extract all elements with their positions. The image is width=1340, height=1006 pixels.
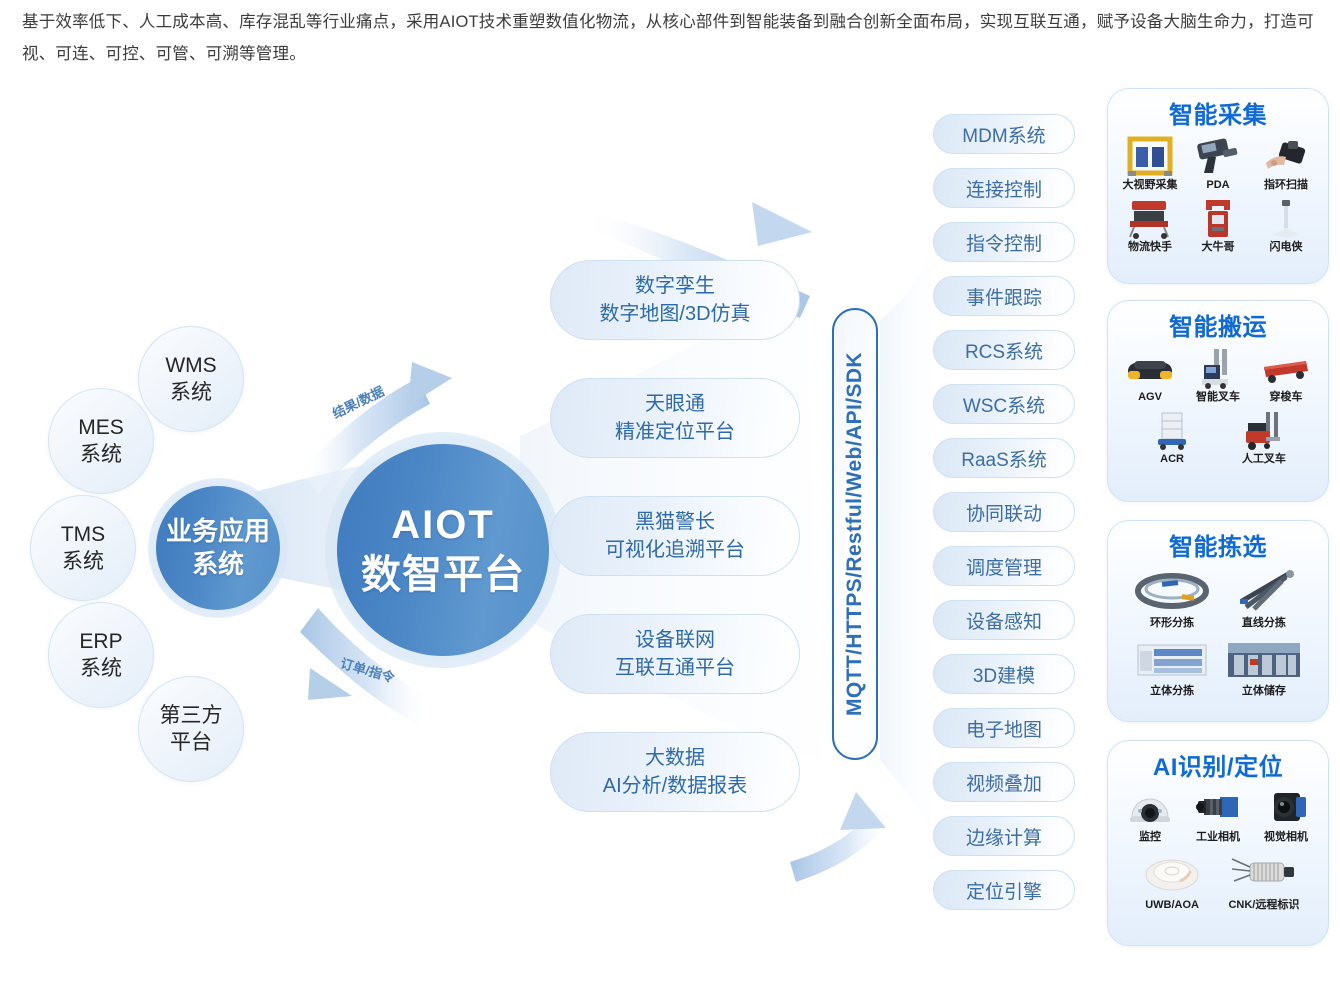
capability-label: WSC系统 (963, 391, 1045, 418)
card-title: 智能拣选 (1116, 527, 1320, 562)
satellite-label-line2: 系统 (80, 441, 122, 468)
protocol-capsule[interactable]: MQTT/HTTPS/Restful/Web/API/SDK (832, 308, 878, 760)
platform-box-line1: 天眼通 (645, 390, 705, 418)
capability-label: 视频叠加 (966, 769, 1042, 796)
capability-pill-scheduling[interactable]: 调度管理 (933, 546, 1075, 586)
platform-box-line2: 精准定位平台 (615, 418, 735, 446)
capability-pill-3d-modeling[interactable]: 3D建模 (933, 654, 1075, 694)
equipment-item[interactable]: 直线分拣 (1218, 566, 1310, 630)
business-hub-line1: 业务应用 (166, 515, 270, 548)
satellite-tms[interactable]: TMS 系统 (30, 495, 136, 601)
equipment-item[interactable]: 视觉相机 (1252, 786, 1320, 844)
capability-label: MDM系统 (962, 121, 1045, 148)
manual-forklift-icon (1235, 408, 1293, 452)
equipment-item[interactable]: UWB/AOA (1126, 848, 1218, 912)
equipment-item[interactable]: 指环扫描 (1252, 134, 1320, 192)
equipment-item[interactable]: 智能叉车 (1184, 346, 1252, 404)
equipment-item[interactable]: 工业相机 (1184, 786, 1252, 844)
equipment-item[interactable]: 立体分拣 (1126, 634, 1218, 698)
capability-label: 调度管理 (966, 553, 1042, 580)
platform-box-line2: 可视化追溯平台 (605, 536, 745, 564)
equipment-item[interactable]: 大视野采集 (1116, 134, 1184, 192)
equipment-label: 视觉相机 (1264, 831, 1308, 844)
arrow-label-result-data: 结果/数据 (329, 381, 387, 422)
capability-pill-wsc[interactable]: WSC系统 (933, 384, 1075, 424)
satellite-label-line1: MES (78, 414, 124, 441)
platform-box-line2: 互联互通平台 (615, 654, 735, 682)
equipment-item[interactable]: 监控 (1116, 786, 1184, 844)
handheld-pda-icon (1189, 134, 1247, 178)
protocol-capsule-label: MQTT/HTTPS/Restful/Web/API/SDK (843, 352, 867, 716)
platform-box-tianyantong[interactable]: 天眼通 精准定位平台 (550, 378, 800, 458)
agv-icon (1121, 346, 1179, 390)
platform-box-line2: AI分析/数据报表 (603, 772, 747, 800)
equipment-item[interactable]: 环形分拣 (1126, 566, 1218, 630)
capability-pill-collaboration[interactable]: 协同联动 (933, 492, 1075, 532)
card-title: 智能采集 (1116, 95, 1320, 130)
card-item-grid: AGV 智能叉车 (1116, 346, 1320, 470)
platform-box-device-network[interactable]: 设备联网 互联互通平台 (550, 614, 800, 694)
capability-pill-mdm[interactable]: MDM系统 (933, 114, 1075, 154)
equipment-label: PDA (1206, 179, 1229, 192)
capability-label: RCS系统 (965, 337, 1043, 364)
equipment-label: 直线分拣 (1242, 617, 1286, 630)
card-item-grid: 监控 工业相机 (1116, 786, 1320, 916)
gantry-scanner-icon (1121, 134, 1179, 178)
satellite-label-line1: ERP (79, 628, 122, 655)
satellite-label-line2: 平台 (170, 729, 212, 756)
capability-label: 设备感知 (966, 607, 1042, 634)
satellite-label-line2: 系统 (80, 655, 122, 682)
ring-sorter-icon (1131, 566, 1213, 616)
equipment-label: ACR (1160, 453, 1184, 466)
vertical-sorter-icon (1131, 634, 1213, 684)
capability-pill-event-trace[interactable]: 事件跟踪 (933, 276, 1075, 316)
equipment-label: 大牛哥 (1201, 241, 1234, 254)
capability-pill-video-overlay[interactable]: 视频叠加 (933, 762, 1075, 802)
ring-scanner-icon (1257, 134, 1315, 178)
equipment-label: 智能叉车 (1196, 391, 1240, 404)
capability-label: RaaS系统 (961, 445, 1047, 472)
capability-label: 协同联动 (966, 499, 1042, 526)
acr-robot-icon (1143, 408, 1201, 452)
aiot-platform-hub[interactable]: AIOT 数智平台 (337, 444, 549, 656)
logistics-cart-icon (1121, 196, 1179, 240)
capability-pill-connection[interactable]: 连接控制 (933, 168, 1075, 208)
satellite-mes[interactable]: MES 系统 (48, 388, 154, 494)
platform-box-big-data[interactable]: 大数据 AI分析/数据报表 (550, 732, 800, 812)
linear-sorter-icon (1223, 566, 1305, 616)
equipment-item[interactable]: 大牛哥 (1184, 196, 1252, 254)
capability-label: 指令控制 (966, 229, 1042, 256)
platform-box-line1: 数字孪生 (635, 272, 715, 300)
equipment-card-collection[interactable]: 智能采集 大视野采集 (1107, 88, 1329, 284)
equipment-label: 物流快手 (1128, 241, 1172, 254)
equipment-item[interactable]: CNK/远程标识 (1218, 848, 1310, 912)
satellite-wms[interactable]: WMS 系统 (138, 326, 244, 432)
equipment-item[interactable]: PDA (1184, 134, 1252, 192)
uwb-beacon-icon (1131, 848, 1213, 898)
platform-box-line2: 数字地图/3D仿真 (599, 300, 750, 328)
aiot-hub-line2: 数智平台 (361, 550, 525, 600)
capability-label: 连接控制 (966, 175, 1042, 202)
equipment-item[interactable]: 物流快手 (1116, 196, 1184, 254)
satellite-label-line1: TMS (61, 521, 105, 548)
platform-box-heimaojingzhang[interactable]: 黑猫警长 可视化追溯平台 (550, 496, 800, 576)
diagram-canvas: 基于效率低下、人工成本高、库存混乱等行业痛点，采用AIOT技术重塑数值化物流，从… (0, 0, 1340, 1006)
vision-camera-icon (1257, 786, 1315, 830)
equipment-card-ai-recognition[interactable]: AI识别/定位 监控 (1107, 740, 1329, 946)
capability-pill-rcs[interactable]: RCS系统 (933, 330, 1075, 370)
business-application-hub[interactable]: 业务应用 系统 (156, 486, 280, 610)
equipment-item[interactable]: AGV (1116, 346, 1184, 404)
card-item-grid: 环形分拣 直线分拣 (1116, 566, 1320, 702)
equipment-label: 立体储存 (1242, 685, 1286, 698)
equipment-label: AGV (1138, 391, 1162, 404)
equipment-card-handling[interactable]: 智能搬运 AGV (1107, 300, 1329, 502)
equipment-label: 闪电侠 (1269, 241, 1302, 254)
business-hub-line2: 系统 (192, 548, 244, 581)
equipment-label: 工业相机 (1196, 831, 1240, 844)
equipment-label: UWB/AOA (1145, 899, 1199, 912)
pole-scanner-icon (1257, 196, 1315, 240)
platform-box-line1: 黑猫警长 (635, 508, 715, 536)
card-title: AI识别/定位 (1116, 747, 1320, 782)
satellite-label-line1: WMS (165, 352, 216, 379)
capability-pill-edge-computing[interactable]: 边缘计算 (933, 816, 1075, 856)
satellite-label-line2: 系统 (170, 379, 212, 406)
capability-pill-command[interactable]: 指令控制 (933, 222, 1075, 262)
equipment-item[interactable]: 立体储存 (1218, 634, 1310, 698)
satellite-third-party[interactable]: 第三方 平台 (138, 676, 244, 782)
equipment-label: 监控 (1139, 831, 1161, 844)
platform-box-line1: 大数据 (645, 744, 705, 772)
capability-label: 电子地图 (966, 715, 1042, 742)
equipment-label: 环形分拣 (1150, 617, 1194, 630)
dome-camera-icon (1121, 786, 1179, 830)
equipment-item[interactable]: 穿梭车 (1252, 346, 1320, 404)
equipment-item[interactable]: ACR (1126, 408, 1218, 466)
smart-forklift-icon (1189, 346, 1247, 390)
equipment-label: 人工叉车 (1242, 453, 1286, 466)
arrow-label-order-command: 订单/指令 (338, 653, 397, 687)
capability-label: 事件跟踪 (966, 283, 1042, 310)
asrs-warehouse-icon (1223, 634, 1305, 684)
platform-box-line1: 设备联网 (635, 626, 715, 654)
industrial-camera-icon (1189, 786, 1247, 830)
capability-label: 定位引擎 (966, 877, 1042, 904)
capability-pill-e-map[interactable]: 电子地图 (933, 708, 1075, 748)
capability-pill-location-engine[interactable]: 定位引擎 (933, 870, 1075, 910)
shuttle-car-icon (1257, 346, 1315, 390)
card-item-grid: 大视野采集 PDA (1116, 134, 1320, 258)
kiosk-terminal-icon (1189, 196, 1247, 240)
aiot-hub-line1: AIOT (391, 500, 495, 550)
satellite-label-line2: 系统 (62, 548, 104, 575)
rfid-tag-icon (1223, 848, 1305, 898)
intro-paragraph: 基于效率低下、人工成本高、库存混乱等行业痛点，采用AIOT技术重塑数值化物流，从… (22, 6, 1322, 70)
equipment-item[interactable]: 人工叉车 (1218, 408, 1310, 466)
capability-label: 边缘计算 (966, 823, 1042, 850)
equipment-label: 大视野采集 (1123, 179, 1178, 192)
equipment-item[interactable]: 闪电侠 (1252, 196, 1320, 254)
equipment-label: 指环扫描 (1264, 179, 1308, 192)
equipment-label: 穿梭车 (1269, 391, 1302, 404)
capability-pill-device-sensing[interactable]: 设备感知 (933, 600, 1075, 640)
satellite-label-line1: 第三方 (160, 702, 223, 729)
capability-label: 3D建模 (973, 661, 1035, 688)
equipment-card-picking[interactable]: 智能拣选 环形分拣 (1107, 520, 1329, 722)
equipment-label: CNK/远程标识 (1228, 899, 1299, 912)
capability-pill-raas[interactable]: RaaS系统 (933, 438, 1075, 478)
equipment-label: 立体分拣 (1150, 685, 1194, 698)
satellite-erp[interactable]: ERP 系统 (48, 602, 154, 708)
platform-box-digital-twin[interactable]: 数字孪生 数字地图/3D仿真 (550, 260, 800, 340)
card-title: 智能搬运 (1116, 307, 1320, 342)
